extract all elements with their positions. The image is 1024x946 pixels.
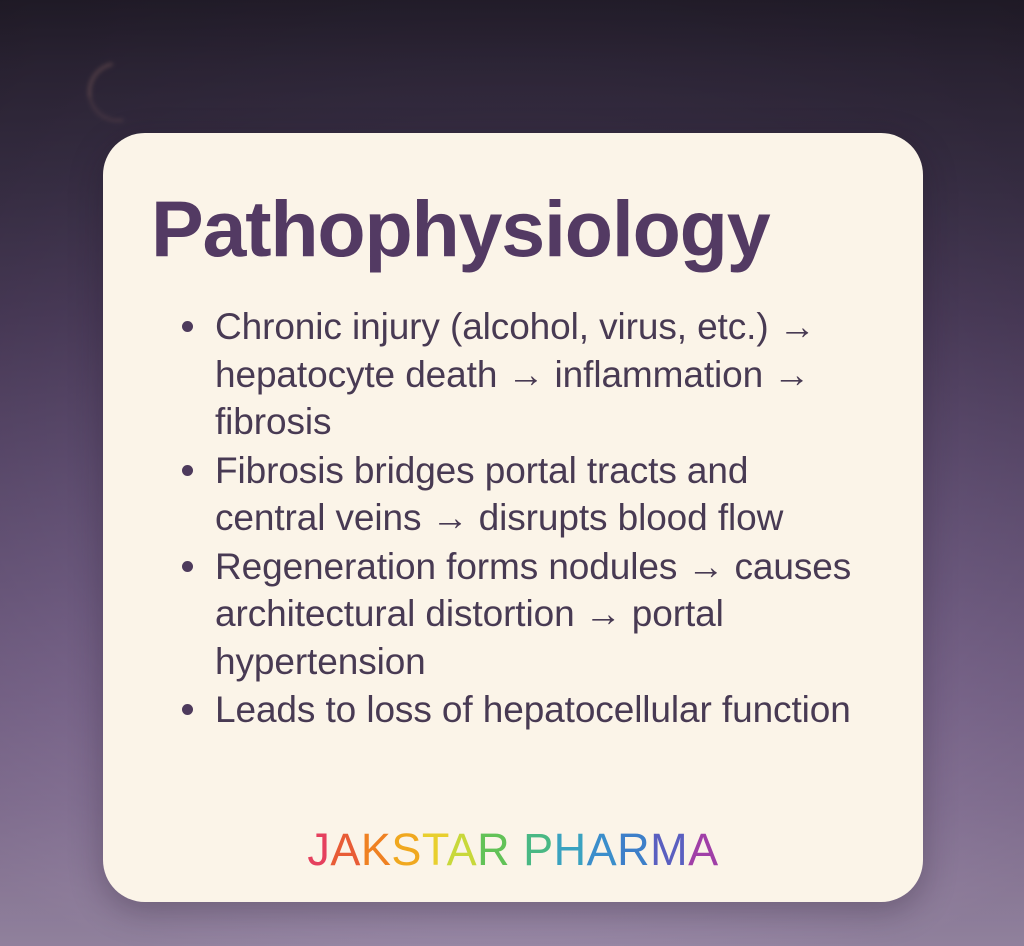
content-card: Pathophysiology Chronic injury (alcohol,… (103, 133, 923, 902)
brand-letter-8: P (523, 824, 554, 875)
brand-letter-11: R (617, 824, 650, 875)
list-item-text: Chronic injury (alcohol, virus, etc.) → … (215, 306, 816, 442)
list-item-text: Fibrosis bridges portal tracts and centr… (215, 450, 783, 539)
brand-watermark: JAKSTAR PHARMA (103, 827, 923, 872)
bullet-dot-icon (182, 561, 193, 572)
bullet-dot-icon (182, 704, 193, 715)
brand-letter-0: J (307, 824, 330, 875)
bullet-dot-icon (182, 465, 193, 476)
brand-letter-2: K (361, 824, 392, 875)
brand-letter-4: T (422, 824, 447, 875)
bullet-list: Chronic injury (alcohol, virus, etc.) → … (169, 303, 869, 735)
list-item-text: Regeneration forms nodules → causes arch… (215, 546, 851, 682)
brand-letter-6: R (477, 824, 510, 875)
brand-letter-13: A (688, 824, 719, 875)
list-item: Chronic injury (alcohol, virus, etc.) → … (169, 303, 855, 446)
brand-letter-5: A (447, 824, 478, 875)
slide-root: Pathophysiology Chronic injury (alcohol,… (0, 0, 1024, 946)
list-item: Fibrosis bridges portal tracts and centr… (169, 447, 855, 542)
brand-letter-12: M (650, 824, 688, 875)
brand-letter-10: A (587, 824, 618, 875)
list-item-text: Leads to loss of hepatocellular function (215, 689, 851, 730)
bullet-dot-icon (182, 321, 193, 332)
list-item: Leads to loss of hepatocellular function (169, 686, 855, 734)
list-item: Regeneration forms nodules → causes arch… (169, 543, 855, 686)
brand-letter-1: A (330, 824, 361, 875)
page-title: Pathophysiology (151, 189, 769, 268)
lens-glow-artifact (76, 50, 159, 133)
brand-letter-9: H (554, 824, 587, 875)
brand-letter-7 (510, 824, 523, 875)
brand-letter-3: S (391, 824, 422, 875)
